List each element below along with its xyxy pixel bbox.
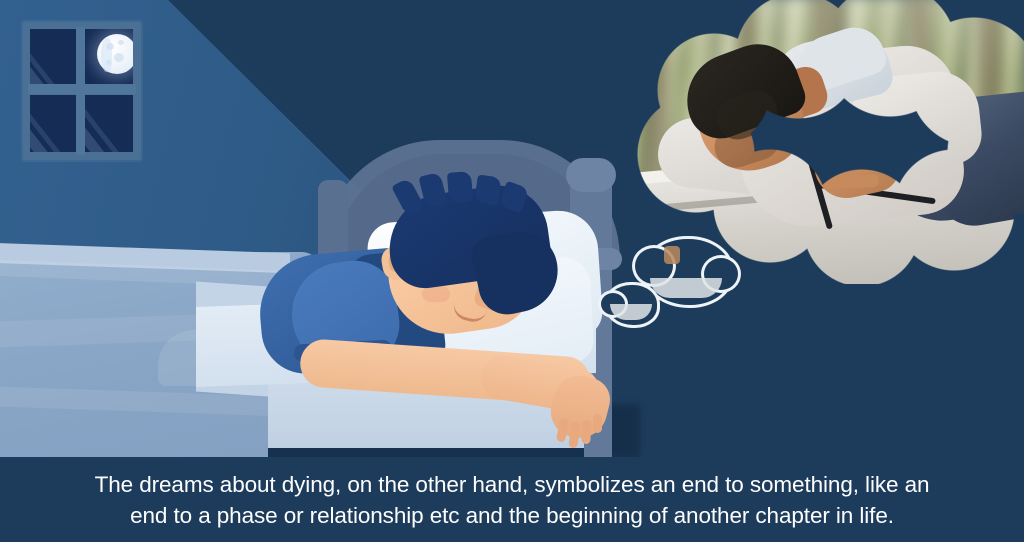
hair-side-lock <box>469 224 566 319</box>
moon-crater <box>106 43 114 50</box>
window-glint <box>30 29 76 86</box>
moon-crater <box>106 60 111 65</box>
window-pane-bottom-right <box>85 95 133 152</box>
sleeping-man <box>230 190 630 460</box>
sleeper-finger <box>593 414 602 433</box>
window-pane-top-right <box>85 29 133 86</box>
caption-bar: The dreams about dying, on the other han… <box>0 457 1024 542</box>
thought-bubble-photo-fragment <box>664 246 680 264</box>
moon-crater <box>118 40 124 45</box>
window-pane-top-left <box>30 29 76 86</box>
sleeper-hair <box>380 188 560 306</box>
night-window <box>23 22 141 160</box>
moon-icon <box>97 34 133 74</box>
sleeper-finger <box>581 420 592 445</box>
window-pane-bottom-left <box>30 95 76 152</box>
moon-crater <box>114 53 124 62</box>
hair-spike <box>474 174 502 205</box>
headboard-post-knob <box>566 158 616 192</box>
window-mullion-horizontal <box>28 84 136 94</box>
caption-line-1: The dreams about dying, on the other han… <box>95 470 930 499</box>
hair-spike <box>447 171 473 203</box>
caption-line-2: end to a phase or relationship etc and t… <box>130 501 894 530</box>
man-finger <box>823 174 879 189</box>
illustration-canvas: The dreams about dying, on the other han… <box>0 0 1024 542</box>
thought-bubble-photo-fragment <box>650 278 722 298</box>
